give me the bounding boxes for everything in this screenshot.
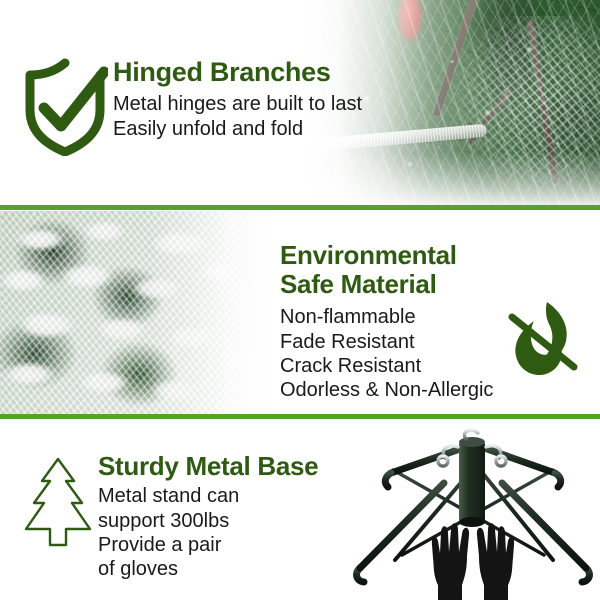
environmental-text-block: Environmental Safe Material Non-flammabl… [280, 241, 493, 403]
hinged-branches-text-block: Hinged Branches Metal hinges are built t… [113, 57, 362, 141]
photo-right-white-fade [0, 211, 290, 415]
metal-base-text-block: Sturdy Metal Base Metal stand can suppor… [98, 452, 318, 582]
section-hinged-branches: Hinged Branches Metal hinges are built t… [0, 0, 600, 205]
metal-tree-stand-photo [348, 425, 598, 600]
metal-base-heading: Sturdy Metal Base [98, 452, 318, 481]
product-feature-infographic: Hinged Branches Metal hinges are built t… [0, 0, 600, 600]
no-flame-icon [503, 297, 581, 383]
environmental-heading: Environmental Safe Material [280, 241, 493, 299]
christmas-tree-outline-icon [22, 455, 94, 547]
gloves-silhouette [432, 523, 514, 600]
flocked-tree-photo [0, 211, 290, 415]
section-divider-top [0, 205, 600, 210]
hinged-branches-body: Metal hinges are built to last Easily un… [113, 92, 362, 141]
metal-base-body: Metal stand can support 300lbs Provide a… [98, 484, 318, 582]
environmental-body: Non-flammable Fade Resistant Crack Resis… [280, 305, 493, 403]
hinged-branches-heading: Hinged Branches [113, 57, 362, 87]
section-divider-bottom [0, 414, 600, 419]
shield-check-icon [22, 58, 108, 156]
